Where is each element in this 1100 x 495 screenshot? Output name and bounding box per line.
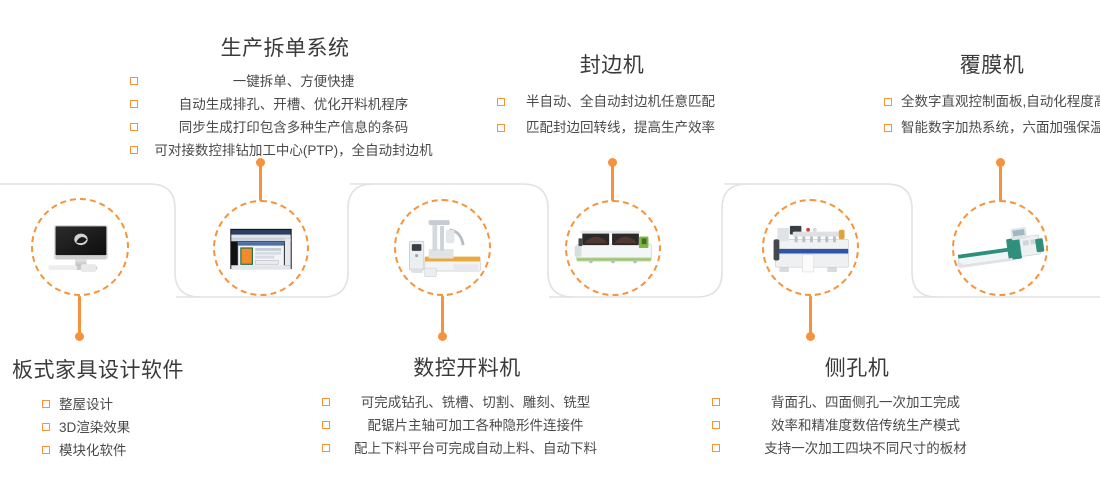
- bullet-square-icon: [884, 124, 892, 132]
- list-item: 一键拆单、方便快捷: [130, 70, 440, 93]
- list-item: 半自动、全自动封边机任意匹配: [497, 89, 727, 115]
- list-item: 全数字直观控制面板,自动化程度高: [884, 89, 1100, 115]
- connector-dot-edge-banding: [608, 158, 617, 167]
- group-title: 数控开料机: [322, 356, 612, 382]
- list-item: 配锯片主轴可加工各种隐形件连接件: [322, 414, 612, 437]
- bullet-square-icon: [712, 421, 720, 429]
- group-title: 板式家具设计软件: [12, 358, 272, 384]
- bullet-square-icon: [42, 423, 50, 431]
- node-side-hole[interactable]: [762, 199, 859, 296]
- group-edge-banding-machine: 封边机 半自动、全自动封边机任意匹配 匹配封边回转线，提高生产效率: [497, 53, 727, 141]
- bullet-square-icon: [130, 100, 138, 108]
- list-item: 3D渲染效果: [42, 416, 272, 439]
- list-item: 自动生成排孔、开槽、优化开料机程序: [130, 93, 440, 116]
- bullet-square-icon: [712, 398, 720, 406]
- group-panel-furniture-design-software: 板式家具设计软件 整屋设计 3D渲染效果 模块化软件: [12, 358, 272, 462]
- feature-list: 一键拆单、方便快捷 自动生成排孔、开槽、优化开料机程序 同步生成打印包含多种生产…: [130, 70, 440, 162]
- list-item-label: 一键拆单、方便快捷: [233, 74, 355, 89]
- node-splitting-system[interactable]: [213, 200, 309, 296]
- feature-list: 可完成钻孔、铣槽、切割、雕刻、铣型 配锯片主轴可加工各种隐形件连接件 配上下料平…: [322, 391, 612, 460]
- group-cnc-cutting-machine: 数控开料机 可完成钻孔、铣槽、切割、雕刻、铣型 配锯片主轴可加工各种隐形件连接件…: [322, 356, 612, 460]
- list-item: 配上下料平台可完成自动上料、自动下料: [322, 437, 612, 460]
- feature-list: 全数字直观控制面板,自动化程度高 智能数字加热系统，六面加强保温: [884, 89, 1100, 141]
- list-item: 同步生成打印包含多种生产信息的条码: [130, 116, 440, 139]
- bullet-square-icon: [130, 123, 138, 131]
- list-item: 支持一次加工四块不同尺寸的板材: [712, 437, 1002, 460]
- bullet-square-icon: [884, 98, 892, 106]
- list-item: 智能数字加热系统，六面加强保温: [884, 115, 1100, 141]
- node-design-software[interactable]: [31, 198, 129, 296]
- infographic-canvas: 生产拆单系统 一键拆单、方便快捷 自动生成排孔、开槽、优化开料机程序 同步生成打…: [0, 0, 1100, 495]
- list-item-label: 效率和精准度数倍传统生产模式: [771, 418, 960, 433]
- list-item-label: 自动生成排孔、开槽、优化开料机程序: [179, 97, 409, 112]
- group-laminating-machine: 覆膜机 全数字直观控制面板,自动化程度高 智能数字加热系统，六面加强保温: [884, 53, 1100, 141]
- list-item: 整屋设计: [42, 393, 272, 416]
- software-screen-icon: [215, 202, 307, 294]
- connector-line-cnc-cutting: [441, 296, 444, 336]
- list-item: 匹配封边回转线，提高生产效率: [497, 115, 727, 141]
- bullet-square-icon: [322, 421, 330, 429]
- list-item-label: 整屋设计: [59, 397, 113, 412]
- feature-list: 背面孔、四面侧孔一次加工完成 效率和精准度数倍传统生产模式 支持一次加工四块不同…: [712, 391, 1002, 460]
- side-drilling-icon: [764, 201, 857, 294]
- group-title: 侧孔机: [712, 356, 1002, 382]
- list-item-label: 配上下料平台可完成自动上料、自动下料: [354, 441, 597, 456]
- node-cnc-cutting[interactable]: [394, 199, 491, 296]
- list-item-label: 全数字直观控制面板,自动化程度高: [901, 94, 1100, 109]
- list-item-label: 支持一次加工四块不同尺寸的板材: [764, 441, 967, 456]
- list-item-label: 匹配封边回转线，提高生产效率: [526, 120, 715, 135]
- group-side-hole-drilling-machine: 侧孔机 背面孔、四面侧孔一次加工完成 效率和精准度数倍传统生产模式 支持一次加工…: [712, 356, 1002, 460]
- node-edge-banding[interactable]: [565, 200, 661, 296]
- feature-list: 整屋设计 3D渲染效果 模块化软件: [12, 393, 272, 462]
- connector-dot-laminating: [996, 158, 1005, 167]
- bullet-square-icon: [130, 146, 138, 154]
- group-production-splitting-system: 生产拆单系统 一键拆单、方便快捷 自动生成排孔、开槽、优化开料机程序 同步生成打…: [130, 36, 440, 162]
- connector-line-laminating: [999, 163, 1002, 201]
- list-item-label: 模块化软件: [59, 443, 127, 458]
- list-item: 效率和精准度数倍传统生产模式: [712, 414, 1002, 437]
- bullet-square-icon: [712, 444, 720, 452]
- bullet-square-icon: [322, 444, 330, 452]
- connector-dot-design-software: [75, 332, 84, 341]
- list-item-label: 3D渲染效果: [59, 420, 130, 435]
- list-item-label: 可完成钻孔、铣槽、切割、雕刻、铣型: [361, 395, 591, 410]
- bullet-square-icon: [497, 124, 505, 132]
- connector-dot-cnc-cutting: [438, 332, 447, 341]
- list-item-label: 智能数字加热系统，六面加强保温: [901, 120, 1100, 135]
- cnc-router-icon: [396, 201, 489, 294]
- imac-monitor-icon: [33, 200, 127, 294]
- edge-banding-icon: [567, 202, 659, 294]
- bullet-square-icon: [42, 400, 50, 408]
- laminating-machine-icon: [954, 202, 1046, 294]
- node-laminating[interactable]: [952, 200, 1048, 296]
- list-item-label: 可对接数控排钻加工中心(PTP)，全自动封边机: [154, 143, 432, 158]
- connector-line-edge-banding: [611, 163, 614, 201]
- list-item-label: 背面孔、四面侧孔一次加工完成: [771, 395, 960, 410]
- list-item: 模块化软件: [42, 439, 272, 462]
- connector-dot-side-hole: [806, 332, 815, 341]
- feature-list: 半自动、全自动封边机任意匹配 匹配封边回转线，提高生产效率: [497, 89, 727, 141]
- list-item: 可完成钻孔、铣槽、切割、雕刻、铣型: [322, 391, 612, 414]
- group-title: 覆膜机: [884, 53, 1100, 79]
- list-item-label: 同步生成打印包含多种生产信息的条码: [179, 120, 409, 135]
- bullet-square-icon: [497, 98, 505, 106]
- list-item: 可对接数控排钻加工中心(PTP)，全自动封边机: [130, 139, 440, 162]
- connector-line-design-software: [78, 296, 81, 336]
- list-item: 背面孔、四面侧孔一次加工完成: [712, 391, 1002, 414]
- connector-line-side-hole: [809, 296, 812, 336]
- connector-line-splitting-system: [259, 163, 262, 201]
- list-item-label: 配锯片主轴可加工各种隐形件连接件: [368, 418, 584, 433]
- bullet-square-icon: [42, 446, 50, 454]
- bullet-square-icon: [130, 77, 138, 85]
- list-item-label: 半自动、全自动封边机任意匹配: [526, 94, 715, 109]
- group-title: 封边机: [497, 53, 727, 79]
- bullet-square-icon: [322, 398, 330, 406]
- group-title: 生产拆单系统: [130, 36, 440, 62]
